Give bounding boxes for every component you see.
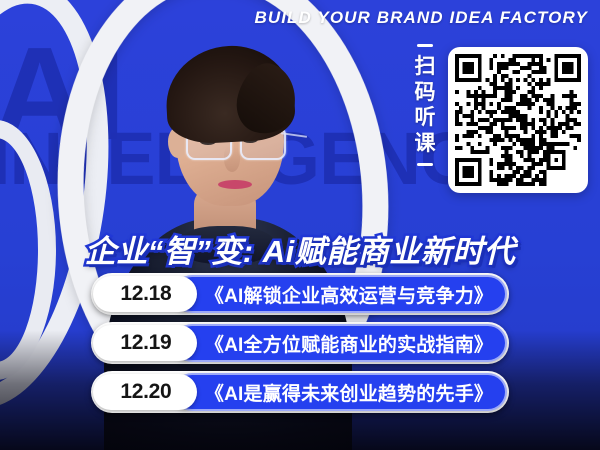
presenter-mouth — [218, 180, 252, 189]
scan-instruction-label: 扫 码 听 课 — [410, 44, 440, 166]
scan-label-dash-bottom — [417, 163, 433, 166]
session-list: 12.18《AI解锁企业高效运营与竞争力》12.19《AI全方位赋能商业的实战指… — [0, 274, 600, 421]
scan-label-char-4: 课 — [410, 131, 440, 157]
session-pill-group: 12.20《AI是赢得未来创业趋势的先手》 — [91, 371, 509, 413]
scan-label-char-3: 听 — [410, 105, 440, 131]
scan-label-char-1: 扫 — [410, 54, 440, 80]
session-date-pill: 12.20 — [93, 374, 197, 410]
session-pill-group: 12.18《AI解锁企业高效运营与竞争力》 — [91, 273, 509, 315]
session-row[interactable]: 12.20《AI是赢得未来创业趋势的先手》 — [0, 372, 600, 412]
poster-headline: BUILD YOUR BRAND IDEA FACTORY — [0, 8, 588, 28]
session-row[interactable]: 12.19《AI全方位赋能商业的实战指南》 — [0, 323, 600, 363]
session-date-pill: 12.19 — [93, 325, 197, 361]
session-topic-pill[interactable]: 《AI解锁企业高效运营与竞争力》 — [173, 275, 507, 313]
main-title-text: 企业“智”变: Ai赋能商业新时代 — [85, 226, 515, 271]
promo-poster: AI INTELLIGENCE BUILD YOUR BRAND IDEA FA… — [0, 0, 600, 450]
main-title: 企业“智”变: Ai赋能商业新时代 — [0, 226, 600, 271]
scan-label-dash-top — [417, 44, 433, 47]
scan-label-char-2: 码 — [410, 80, 440, 106]
session-date-pill: 12.18 — [93, 276, 197, 312]
session-topic-pill[interactable]: 《AI全方位赋能商业的实战指南》 — [173, 324, 507, 362]
qr-code-icon[interactable] — [455, 54, 581, 186]
session-row[interactable]: 12.18《AI解锁企业高效运营与竞争力》 — [0, 274, 600, 314]
session-topic-pill[interactable]: 《AI是赢得未来创业趋势的先手》 — [173, 373, 507, 411]
session-pill-group: 12.19《AI全方位赋能商业的实战指南》 — [91, 322, 509, 364]
qr-code-container[interactable] — [448, 47, 588, 193]
